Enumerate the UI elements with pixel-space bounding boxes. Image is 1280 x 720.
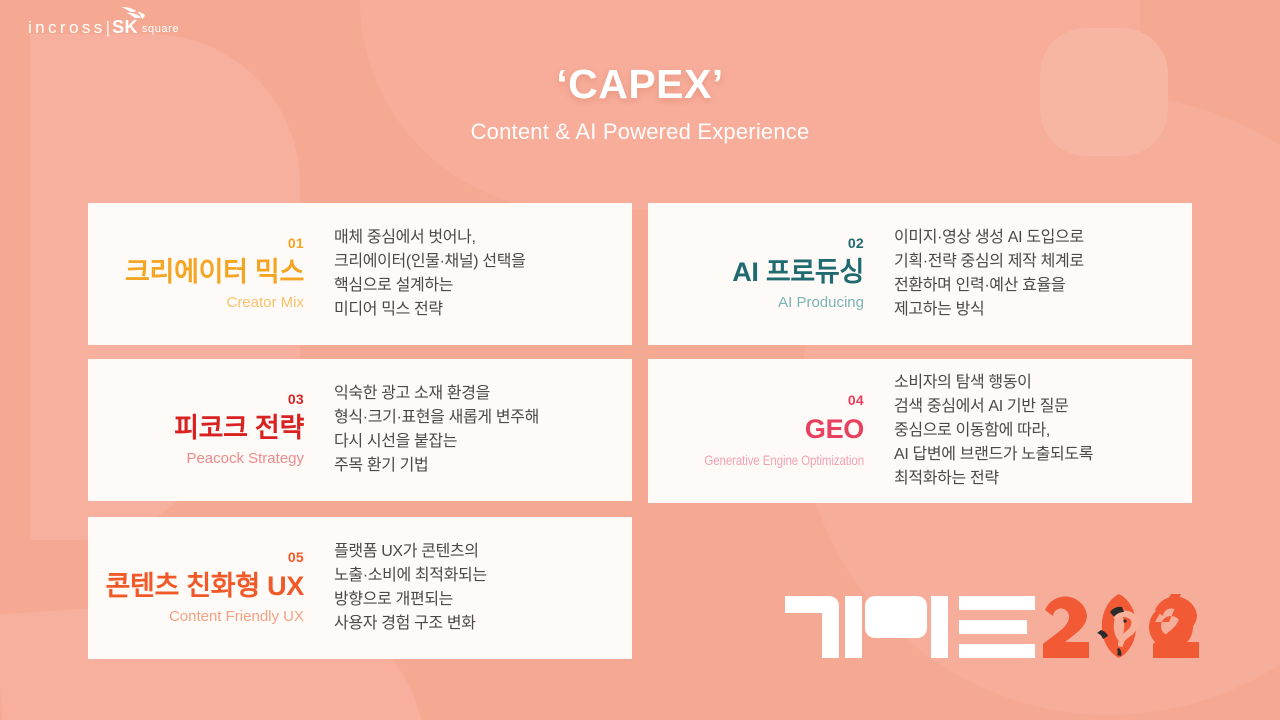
concept-card[interactable]: 03피코크 전략Peacock Strategy익숙한 광고 소재 환경을 형식… <box>88 359 632 501</box>
brand-logo: incross | SK square <box>28 18 179 36</box>
concept-card-number: 05 <box>88 550 304 564</box>
concept-card-number: 02 <box>648 236 864 250</box>
concept-card-title-en: Generative Engine Optimization <box>687 452 864 469</box>
concept-card-title-ko: 콘텐츠 친화형 UX <box>88 571 304 602</box>
page-subtitle: Content & AI Powered Experience <box>0 119 1280 145</box>
page-title: ‘CAPEX’ <box>0 62 1280 108</box>
concept-card[interactable]: 05콘텐츠 친화형 UXContent Friendly UX플랫폼 UX가 콘… <box>88 517 632 659</box>
concept-card-number: 03 <box>88 392 304 406</box>
concept-card[interactable]: 02AI 프로듀싱AI Producing이미지·영상 생성 AI 도입으로 기… <box>648 203 1192 345</box>
concept-card[interactable]: 01크리에이터 믹스Creator Mix매체 중심에서 벗어나, 크리에이터(… <box>88 203 632 345</box>
title-block: ‘CAPEX’ Content & AI Powered Experience <box>0 62 1280 145</box>
horse-mascot-icon <box>1097 607 1139 656</box>
concept-card-description: 소비자의 탐색 행동이 검색 중심에서 AI 기반 질문 중심으로 이동함에 따… <box>880 371 1178 491</box>
concept-card-description: 플랫폼 UX가 콘텐츠의 노출·소비에 최적화되는 방향으로 개편되는 사용자 … <box>320 540 618 636</box>
concept-card-title-ko: GEO <box>648 414 864 445</box>
concept-card-title-en: Content Friendly UX <box>88 608 304 626</box>
concept-card-heading: 01크리에이터 믹스Creator Mix <box>88 236 320 312</box>
brand-divider: | <box>106 19 110 36</box>
sk-butterfly-icon <box>120 6 146 22</box>
concept-card-number: 04 <box>648 393 864 407</box>
concept-card-heading: 03피코크 전략Peacock Strategy <box>88 392 320 468</box>
event-logo-year <box>1043 594 1199 658</box>
brand-square-text: square <box>142 24 179 35</box>
concept-card-heading: 05콘텐츠 친화형 UXContent Friendly UX <box>88 550 320 626</box>
concept-card-title-en: Creator Mix <box>88 294 304 312</box>
concept-card-heading: 02AI 프로듀싱AI Producing <box>648 236 880 312</box>
concept-card-title-ko: 크리에이터 믹스 <box>88 257 304 288</box>
concept-card[interactable]: 04GEOGenerative Engine Optimization소비자의 … <box>648 359 1192 503</box>
concept-card-title-en: AI Producing <box>648 294 864 312</box>
concept-card-description: 이미지·영상 생성 AI 도입으로 기획·전략 중심의 제작 체계로 전환하며 … <box>880 226 1178 322</box>
concept-card-number: 01 <box>88 236 304 250</box>
concept-card-title-en: Peacock Strategy <box>88 450 304 468</box>
slide-canvas: incross | SK square ‘CAPEX’ Content & AI… <box>0 0 1280 720</box>
concept-card-title-ko: AI 프로듀싱 <box>648 257 864 288</box>
event-logo-word-ko <box>785 596 1035 658</box>
brand-incross-text: incross <box>28 19 106 36</box>
concept-card-title-ko: 피코크 전략 <box>88 413 304 444</box>
concept-card-heading: 04GEOGenerative Engine Optimization <box>648 393 880 468</box>
event-logo <box>783 588 1203 666</box>
concept-card-description: 익숙한 광고 소재 환경을 형식·크기·표현을 새롭게 변주해 다시 시선을 붙… <box>320 382 618 478</box>
event-logo-graphic <box>783 588 1203 666</box>
concept-card-description: 매체 중심에서 벗어나, 크리에이터(인물·채널) 선택을 핵심으로 설계하는 … <box>320 226 618 322</box>
